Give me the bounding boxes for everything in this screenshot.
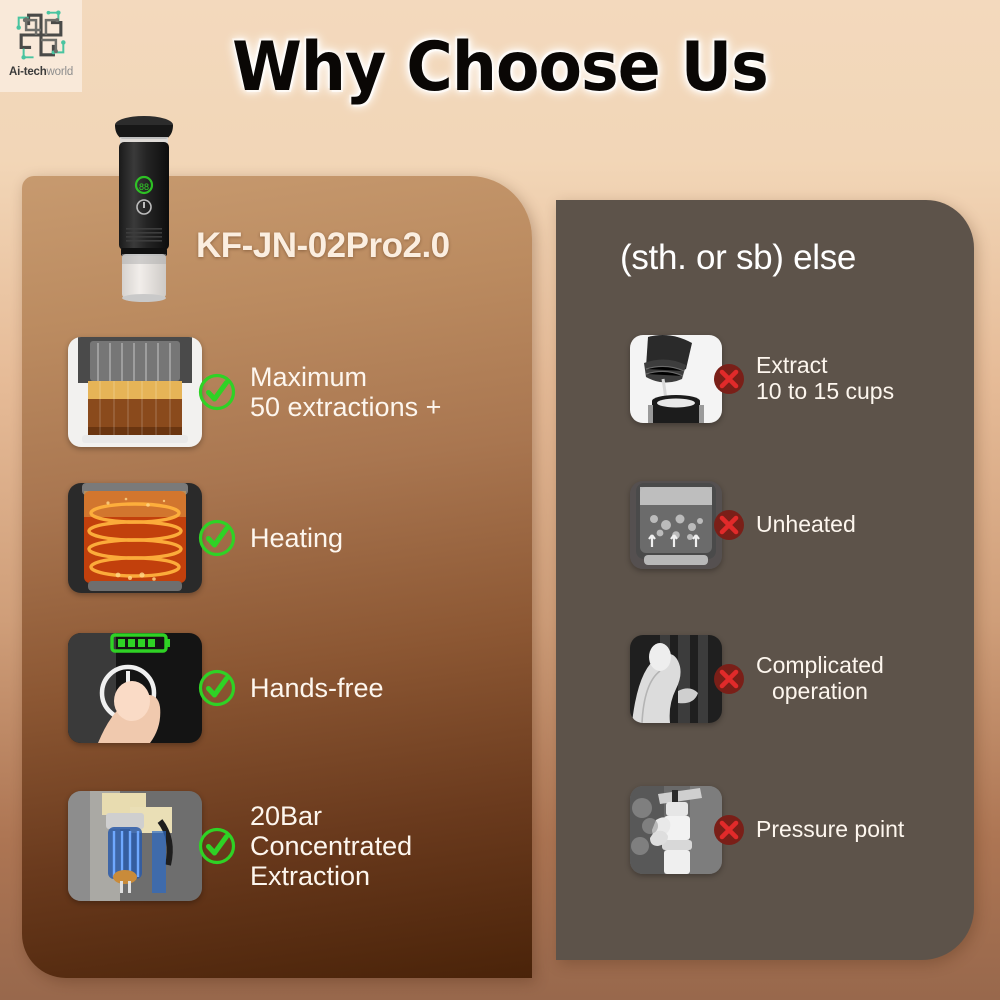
- hand-pressing-icon: [630, 635, 722, 723]
- pro-row-4-line-3: Extraction: [250, 861, 412, 891]
- coffee-extraction-cup-icon: [68, 337, 202, 447]
- cross-circle-icon: [712, 662, 746, 696]
- svg-text:88: 88: [139, 182, 149, 192]
- check-circle-icon: [196, 371, 238, 413]
- pro-row-4-text: 20Bar Concentrated Extraction: [250, 801, 412, 892]
- pump-motor-icon: [68, 791, 202, 901]
- brand-name-light: world: [47, 66, 73, 78]
- product-model-name: KF-JN-02Pro2.0: [196, 226, 450, 266]
- portable-espresso-machine-icon: 88: [103, 112, 185, 304]
- pro-row-3-line-1: Hands-free: [250, 673, 384, 703]
- con-row-2: Unheated: [630, 481, 856, 569]
- con-row-1-text: Extract 10 to 15 cups: [756, 353, 894, 405]
- brand-logo: Ai-techworld: [0, 0, 82, 92]
- check-circle-icon: [196, 825, 238, 867]
- pro-row-3-text: Hands-free: [250, 673, 384, 703]
- pro-row-4: 20Bar Concentrated Extraction: [68, 791, 412, 901]
- one-touch-button-icon: [68, 633, 202, 743]
- pro-row-1-line-1: Maximum: [250, 362, 441, 392]
- con-row-3-text: Complicated operation: [756, 653, 884, 705]
- con-row-4: Pressure point: [630, 786, 904, 874]
- brand-name-bold: Ai-tech: [9, 66, 47, 78]
- con-row-3: Complicated operation: [630, 635, 884, 723]
- con-row-3-line-2: operation: [756, 679, 884, 705]
- con-row-4-line-1: Pressure point: [756, 817, 904, 843]
- cross-circle-icon: [712, 508, 746, 542]
- pro-row-3: Hands-free: [68, 633, 384, 743]
- con-row-1-line-2: 10 to 15 cups: [756, 379, 894, 405]
- circuit-pinwheel-logo-icon: [10, 4, 72, 66]
- page-title: Why Choose Us: [35, 34, 965, 102]
- brand-wordmark: Ai-techworld: [9, 67, 73, 79]
- pouring-coffee-icon: [630, 335, 722, 423]
- pro-row-2: Heating: [68, 483, 343, 593]
- check-circle-icon: [196, 517, 238, 559]
- cross-circle-icon: [712, 813, 746, 847]
- pro-row-1-text: Maximum 50 extractions +: [250, 362, 441, 422]
- pro-row-4-line-1: 20Bar: [250, 801, 412, 831]
- cross-circle-icon: [712, 362, 746, 396]
- con-row-2-text: Unheated: [756, 512, 856, 538]
- pro-row-1-line-2: 50 extractions +: [250, 392, 441, 422]
- pro-row-2-line-1: Heating: [250, 523, 343, 553]
- pro-row-4-line-2: Concentrated: [250, 831, 412, 861]
- cons-panel-title: (sth. or sb) else: [620, 238, 856, 278]
- check-circle-icon: [196, 667, 238, 709]
- pro-row-2-text: Heating: [250, 523, 343, 553]
- hand-holding-press-icon: [630, 786, 722, 874]
- heating-coil-cup-icon: [68, 483, 202, 593]
- con-row-2-line-1: Unheated: [756, 512, 856, 538]
- pro-row-1: Maximum 50 extractions +: [68, 337, 441, 447]
- con-row-4-text: Pressure point: [756, 817, 904, 843]
- con-row-1: Extract 10 to 15 cups: [630, 335, 894, 423]
- con-row-3-line-1: Complicated: [756, 653, 884, 679]
- con-row-1-line-1: Extract: [756, 353, 894, 379]
- cold-water-cup-icon: [630, 481, 722, 569]
